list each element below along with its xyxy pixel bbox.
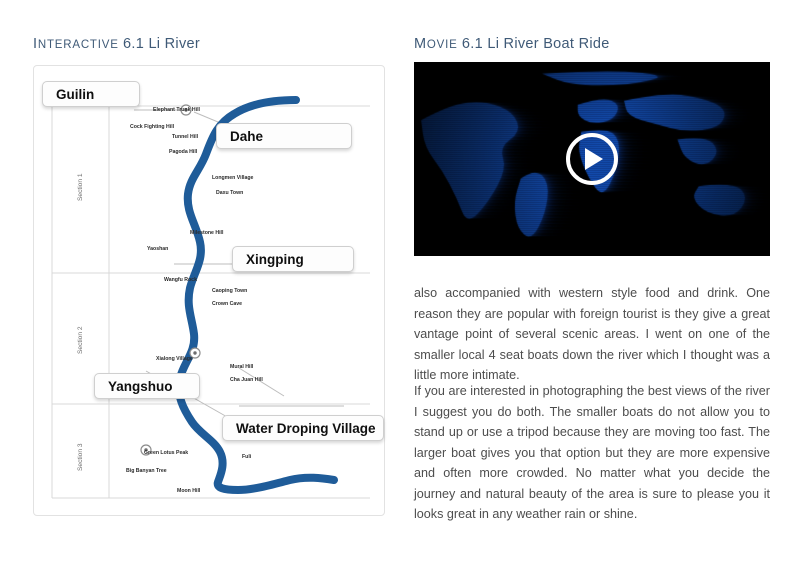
section-label: Section 3 <box>77 443 84 471</box>
place-label: Cock Fighting Hill <box>130 124 175 130</box>
place-label: Tunnel Hill <box>172 134 199 140</box>
callout-label: Dahe <box>230 129 263 144</box>
place-label: Crown Cave <box>212 301 242 307</box>
callout-label: Guilin <box>56 87 94 102</box>
place-label: Daxu Town <box>216 190 243 196</box>
map-section-labels: Section 1 Section 2 Section 3 <box>77 173 84 471</box>
callout-label: Yangshuo <box>108 379 173 394</box>
figure-caption-number: 6.1 <box>123 36 144 52</box>
movie-caption: MOVIE 6.1 Li River Boat Ride <box>414 36 610 52</box>
section-label: Section 2 <box>77 326 84 354</box>
place-label: Caoping Town <box>212 288 247 294</box>
callout-xingping[interactable]: Xingping <box>232 246 354 272</box>
callout-label: Water Droping Village <box>236 421 376 436</box>
video-player[interactable] <box>414 62 770 256</box>
place-label: Green Lotus Peak <box>144 450 188 456</box>
movie-caption-title: Li River Boat Ride <box>487 36 609 52</box>
place-label: Moon Hill <box>177 488 201 494</box>
place-label: Xialong Village <box>156 356 193 362</box>
place-label: Milestone Hill <box>190 230 224 236</box>
callout-dahe[interactable]: Dahe <box>216 123 352 149</box>
page-root: INTERACTIVE 6.1 Li River <box>0 0 800 587</box>
callout-label: Xingping <box>246 252 304 267</box>
play-icon[interactable] <box>566 133 618 185</box>
callout-guilin[interactable]: Guilin <box>42 81 140 107</box>
figure-caption: INTERACTIVE 6.1 Li River <box>33 36 200 52</box>
place-label: Fuli <box>242 454 252 460</box>
play-triangle-glyph <box>585 148 603 170</box>
figure-caption-keyword: INTERACTIVE <box>33 39 119 51</box>
callout-water-droping-village[interactable]: Water Droping Village <box>222 415 384 441</box>
place-label: Cha Juan Hill <box>230 377 263 383</box>
place-label: Elephant Trunk Hill <box>153 107 201 113</box>
place-label: Yaoshan <box>147 246 168 252</box>
section-label: Section 1 <box>77 173 84 201</box>
place-label: Pagoda Hill <box>169 149 198 155</box>
place-label: Wangfu Rock <box>164 277 197 283</box>
figure-caption-title: Li River <box>148 36 200 52</box>
article-paragraph-1: also accompanied with western style food… <box>414 283 770 386</box>
article-paragraph-2: If you are interested in photographing t… <box>414 381 770 525</box>
movie-caption-number: 6.1 <box>462 36 483 52</box>
callout-yangshuo[interactable]: Yangshuo <box>94 373 200 399</box>
place-label: Longmen Village <box>212 175 254 181</box>
movie-caption-keyword: MOVIE <box>414 39 458 51</box>
place-label: Big Banyan Tree <box>126 468 167 474</box>
place-label: Mural Hill <box>230 364 254 370</box>
